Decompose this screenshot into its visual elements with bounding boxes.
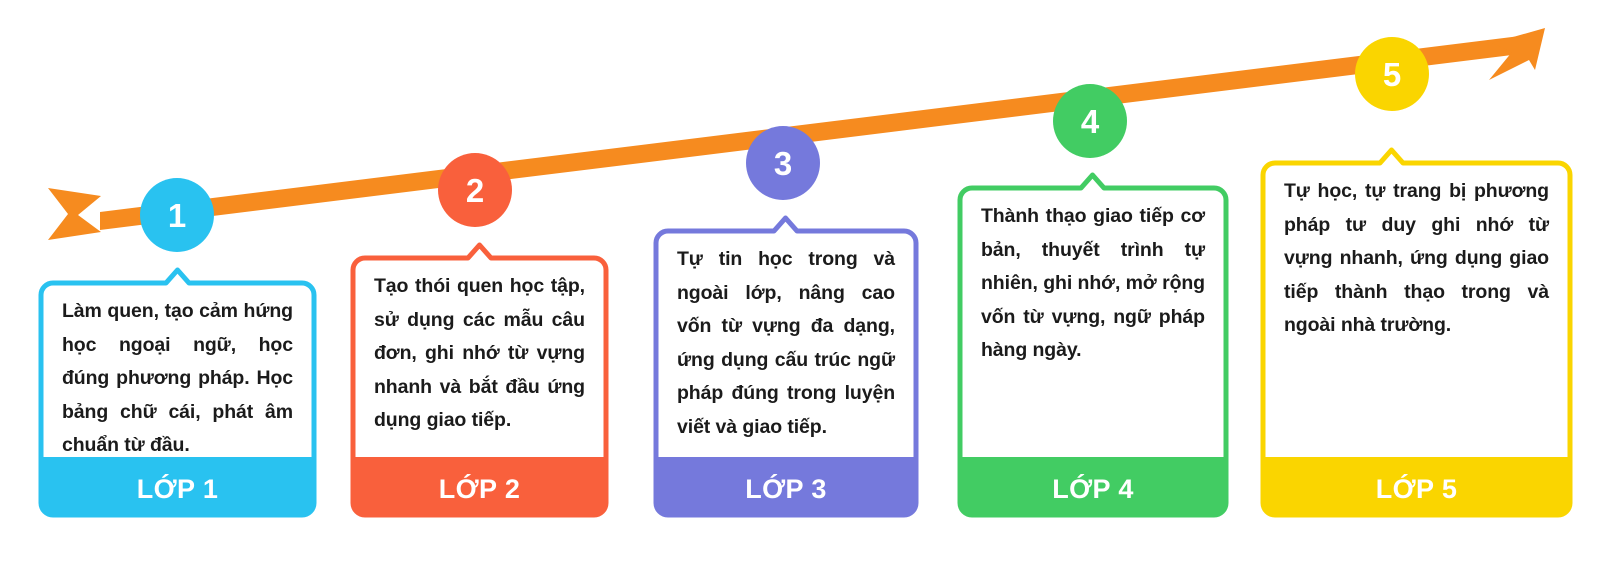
step-badge-3[interactable]: 3 <box>746 126 820 200</box>
step-card-5[interactable]: Tự học, tự trang bị phương pháp tư duy g… <box>1260 145 1573 518</box>
step-badge-5[interactable]: 5 <box>1355 37 1429 111</box>
step-badge-3-number: 3 <box>774 147 792 180</box>
card-2-description: Tạo thói quen học tập, sử dụng các mẫu c… <box>350 240 609 448</box>
step-card-4[interactable]: Thành thạo giao tiếp cơ bản, thuyết trìn… <box>957 170 1229 518</box>
infographic-roadmap: Làm quen, tạo cảm hứng học ngoại ngữ, họ… <box>0 0 1612 580</box>
card-3-description: Tự tin học trong và ngoài lớp, nâng cao … <box>653 213 919 454</box>
card-4-label: LỚP 4 <box>957 460 1229 518</box>
step-card-3[interactable]: Tự tin học trong và ngoài lớp, nâng cao … <box>653 213 919 518</box>
step-badge-4-number: 4 <box>1081 105 1099 138</box>
arrow-head <box>1489 28 1545 80</box>
arrow-tail-fletching <box>48 188 101 240</box>
step-card-1[interactable]: Làm quen, tạo cảm hứng học ngoại ngữ, họ… <box>38 265 317 518</box>
step-badge-1-number: 1 <box>168 199 186 232</box>
card-5-label: LỚP 5 <box>1260 460 1573 518</box>
step-badge-5-number: 5 <box>1383 58 1401 91</box>
step-card-2[interactable]: Tạo thói quen học tập, sử dụng các mẫu c… <box>350 240 609 518</box>
card-1-description: Làm quen, tạo cảm hứng học ngoại ngữ, họ… <box>38 265 317 473</box>
card-5-description: Tự học, tự trang bị phương pháp tư duy g… <box>1260 145 1573 353</box>
step-badge-2-number: 2 <box>466 174 484 207</box>
step-badge-2[interactable]: 2 <box>438 153 512 227</box>
step-badge-1[interactable]: 1 <box>140 178 214 252</box>
card-3-label: LỚP 3 <box>653 460 919 518</box>
card-1-label: LỚP 1 <box>38 460 317 518</box>
card-4-description: Thành thạo giao tiếp cơ bản, thuyết trìn… <box>957 170 1229 378</box>
card-2-label: LỚP 2 <box>350 460 609 518</box>
step-badge-4[interactable]: 4 <box>1053 84 1127 158</box>
